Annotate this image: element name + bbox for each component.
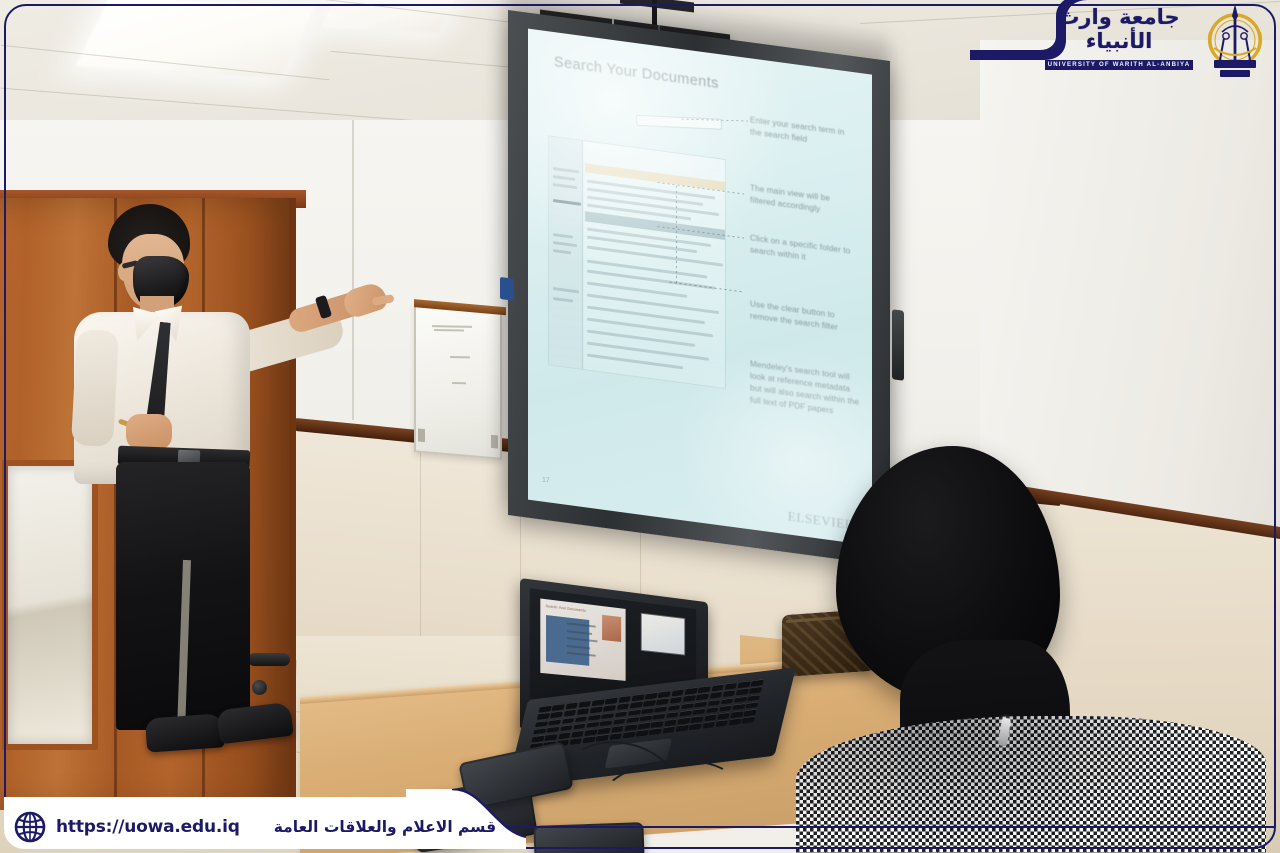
event-photograph: Search Your Documents bbox=[0, 0, 1280, 853]
laptop-slide-image bbox=[602, 615, 620, 642]
presenter-shoe-left bbox=[145, 713, 225, 752]
laptop-slide-title: Search Your Documents bbox=[546, 604, 586, 613]
wall-corner bbox=[352, 120, 354, 420]
whiteboard-clip bbox=[491, 435, 498, 449]
university-seal-emblem bbox=[1202, 2, 1268, 82]
laptop-next-slide-thumbnail bbox=[640, 613, 685, 656]
smartphone-screen bbox=[535, 824, 642, 853]
slide-page-number: 17 bbox=[542, 477, 550, 485]
door-handle[interactable] bbox=[248, 653, 290, 666]
whiteboard-clip bbox=[418, 429, 425, 443]
whiteboard-writing bbox=[434, 329, 464, 331]
projection-screen[interactable]: Search Your Documents bbox=[508, 10, 890, 566]
whiteboard-writing bbox=[432, 325, 472, 327]
screen-glare-secondary bbox=[672, 329, 872, 546]
screenshot-list-row bbox=[587, 354, 683, 370]
presenter-left-arm bbox=[71, 329, 119, 447]
screen-hinge bbox=[892, 309, 904, 381]
university-name-arabic: جامعة وارث الأنبياء bbox=[1044, 5, 1194, 53]
footer-content: https://uowa.edu.iq قسم الاعلام والعلاقا… bbox=[0, 801, 452, 853]
branded-photo-frame: Search Your Documents bbox=[0, 0, 1280, 853]
door-lock[interactable] bbox=[252, 680, 267, 695]
door-window bbox=[2, 460, 98, 750]
university-wordmark: جامعة وارث الأنبياء UNIVERSITY OF WARITH… bbox=[1044, 5, 1194, 49]
footer-rule bbox=[440, 826, 1274, 828]
university-name-english: UNIVERSITY OF WARITH AL-ANBIYA bbox=[1045, 60, 1194, 70]
wall-whiteboard bbox=[414, 304, 502, 460]
website-url[interactable]: https://uowa.edu.iq bbox=[56, 817, 240, 837]
department-name-arabic: قسم الاعلام والعلاقات العامة bbox=[274, 818, 496, 836]
laptop-current-slide: Search Your Documents bbox=[540, 598, 625, 681]
whiteboard-writing bbox=[450, 356, 470, 358]
attendee-jacket-shading bbox=[796, 716, 1266, 853]
whiteboard-writing bbox=[452, 382, 466, 384]
globe-icon bbox=[14, 811, 46, 843]
presenter-left-hand bbox=[126, 414, 172, 450]
screen-surface: Search Your Documents bbox=[528, 29, 872, 546]
screen-marker-pen[interactable] bbox=[500, 277, 514, 301]
slide-callout-4: Use the clear button to remove the searc… bbox=[750, 298, 856, 336]
wainscot-seam bbox=[420, 438, 421, 668]
